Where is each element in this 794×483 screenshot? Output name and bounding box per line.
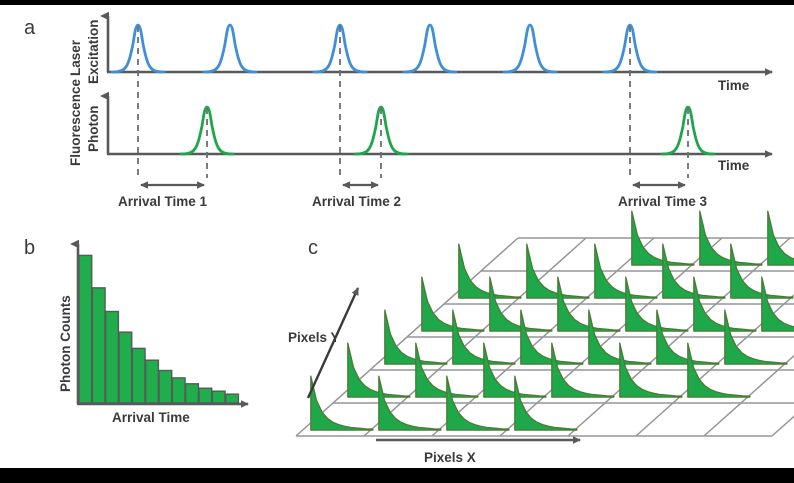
panel-a-letter: a	[24, 18, 35, 38]
panel-c-axis-arrows	[308, 288, 580, 440]
panel-c-decay-group	[311, 211, 794, 430]
laser-pulse-5	[504, 25, 556, 72]
reference-dashed-lines	[138, 26, 688, 178]
pixel-decay-curve	[422, 277, 484, 331]
pixel-decay-curve	[311, 376, 373, 430]
laser-pulse-6	[604, 25, 656, 72]
pixel-decay-curve	[595, 244, 657, 298]
grid-col-line	[364, 238, 586, 436]
pixel-decay-curve	[521, 310, 583, 364]
pixel-decay-curve	[663, 244, 725, 298]
laser-pulse-1	[112, 25, 164, 72]
panel-c-grid-group	[296, 238, 794, 436]
grid-col-line	[432, 238, 654, 436]
panel-a-axis1-label-line1: Laser	[68, 40, 83, 76]
pixel-decay-curve	[688, 343, 750, 397]
panel-c-letter: c	[308, 238, 318, 258]
pixel-decay-curve	[700, 211, 762, 265]
bottom-black-border	[0, 468, 794, 483]
pixel-decay-curve	[490, 277, 552, 331]
panel-b-bar-group	[79, 255, 238, 403]
photon-pulse-3	[662, 107, 714, 154]
pixel-decay-curve	[731, 244, 793, 298]
panel-b-ylabel: Photon Counts	[58, 295, 73, 392]
top-black-border	[0, 0, 794, 5]
pixel-decay-curve	[762, 277, 794, 331]
pixel-decay-curve	[379, 376, 441, 430]
pixel-decay-curve	[694, 277, 756, 331]
panel-a-laser-axes	[107, 16, 772, 72]
histogram-bar	[212, 391, 225, 403]
histogram-bar	[79, 255, 92, 403]
panel-b-letter: b	[24, 238, 35, 258]
histogram-bar	[186, 384, 199, 403]
pixel-decay-curve	[484, 343, 546, 397]
pixel-decay-curve	[552, 343, 614, 397]
pixel-decay-curve	[657, 310, 719, 364]
pixel-decay-curve	[515, 376, 577, 430]
panel-b-axes	[77, 244, 248, 404]
panel-c-ylabel: Pixels Y	[288, 330, 340, 345]
pixel-decay-curve	[527, 244, 589, 298]
arrival-time-3-label: Arrival Time 3	[618, 194, 707, 209]
laser-pulse-4	[404, 25, 456, 72]
pixel-decay-curve	[589, 310, 651, 364]
photon-pulse-2	[355, 107, 407, 154]
histogram-bar	[172, 378, 185, 403]
pixel-decay-curve	[558, 277, 620, 331]
panel-a-axis2-label-line1: Fluorescence	[68, 79, 83, 166]
histogram-bar	[106, 311, 119, 403]
histogram-bar	[146, 360, 159, 403]
grid-col-line	[500, 238, 722, 436]
panel-a-axis2-label-line2: Photon	[86, 106, 101, 153]
pixel-decay-curve	[626, 277, 688, 331]
pixel-decay-curve	[725, 310, 787, 364]
panel-a-photon-axes	[107, 96, 772, 154]
pixel-decay-curve	[632, 211, 694, 265]
panel-b-xlabel: Arrival Time	[112, 410, 190, 425]
histogram-bar	[132, 348, 145, 403]
pixel-decay-curve	[768, 211, 794, 265]
pixel-decay-curve	[416, 343, 478, 397]
laser-pulse-3	[314, 25, 366, 72]
figure-root: a b c Laser Excitation Fluorescence Phot…	[0, 0, 794, 483]
grid-col-line	[636, 238, 794, 436]
panel-a-axis1-label-line2: Excitation	[86, 19, 101, 84]
histogram-bar	[119, 332, 132, 403]
pixel-decay-curve	[385, 310, 447, 364]
panel-a-time-label-top: Time	[718, 78, 749, 93]
pixel-decay-curve	[447, 376, 509, 430]
photon-pulse-group	[181, 107, 714, 154]
pixel-decay-curve	[620, 343, 682, 397]
pixel-decay-curve	[348, 343, 410, 397]
laser-pulse-group	[112, 25, 656, 72]
laser-pulse-2	[204, 25, 256, 72]
arrival-time-1-label: Arrival Time 1	[118, 194, 207, 209]
histogram-bar	[199, 388, 212, 403]
photon-pulse-1	[181, 107, 233, 154]
pixel-decay-curve	[453, 310, 515, 364]
pixel-decay-curve	[459, 244, 521, 298]
grid-col-line	[772, 238, 794, 436]
grid-col-line	[568, 238, 790, 436]
panel-c-xlabel: Pixels X	[424, 450, 476, 465]
grid-col-line	[704, 238, 794, 436]
histogram-bar	[159, 371, 172, 403]
arrival-time-2-label: Arrival Time 2	[312, 194, 401, 209]
histogram-bar	[92, 288, 105, 403]
histogram-bar	[226, 394, 239, 403]
panel-a-time-label-bottom: Time	[718, 158, 749, 173]
